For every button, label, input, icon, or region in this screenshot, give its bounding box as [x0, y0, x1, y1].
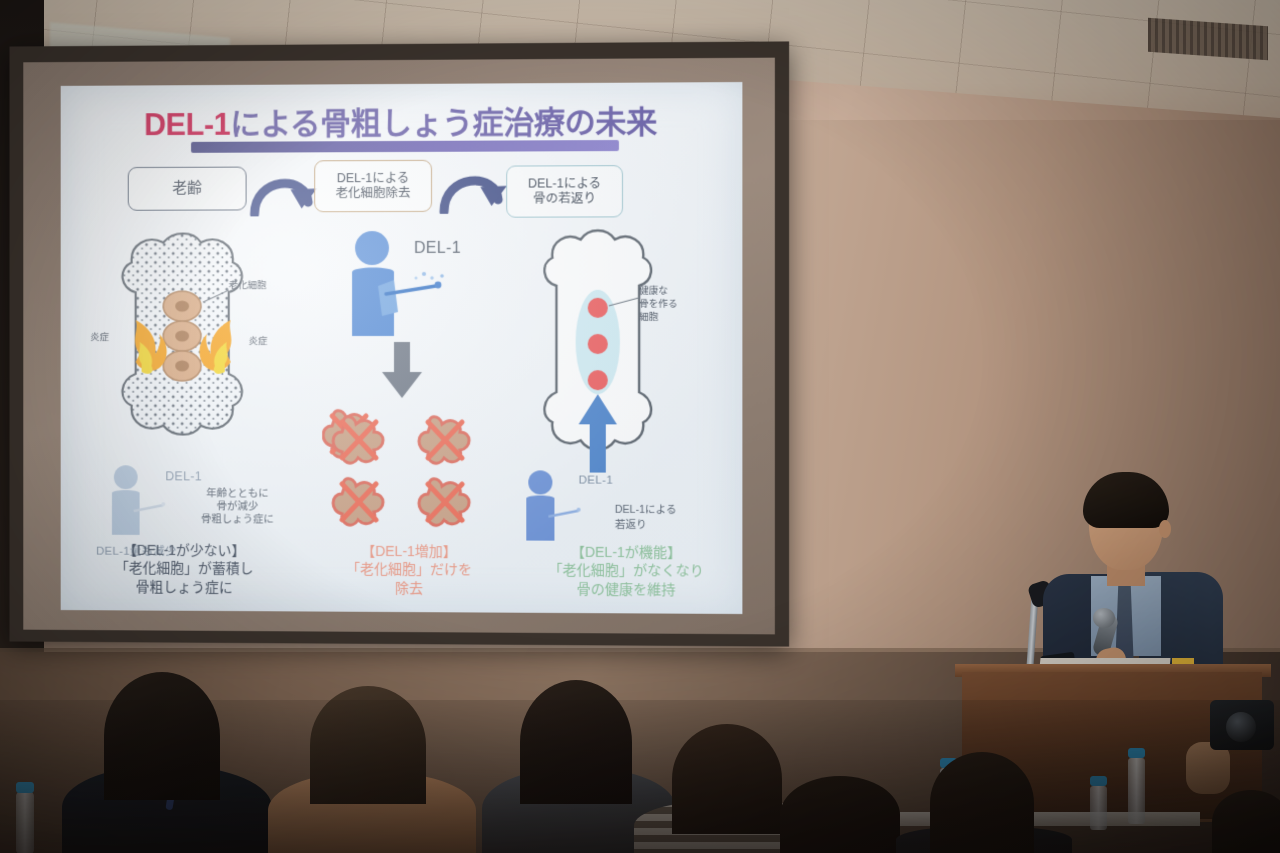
caption-2-line-1: 【DEL-1増加】	[294, 542, 524, 562]
caption-3-line-1: 【DEL-1が機能】	[510, 542, 742, 562]
column-aged-bone: 老化細胞 炎症 炎症 DEL-1 年齢とともに 骨が減少 骨粗しょう症に DEL…	[82, 224, 307, 533]
healthy-cells-line3: 細胞	[639, 311, 677, 324]
blue-person-small-icon	[514, 468, 584, 542]
flow-box-removal-line2: 老化細胞除去	[336, 186, 411, 201]
removed-cells-illustration	[322, 406, 504, 533]
slide-title: DEL-1による骨粗しょう症治療の未来	[61, 96, 743, 144]
label-senescent-cells: 老化細胞	[229, 280, 267, 292]
curved-arrow-1-icon	[249, 164, 319, 216]
column-del1-removal: DEL-1	[298, 224, 525, 535]
aging-note: 年齢とともに 骨が減少 骨粗しょう症に	[201, 487, 274, 526]
curved-arrow-2-icon	[438, 162, 508, 214]
rejuvenation-note: DEL-1による 若返り	[615, 503, 677, 533]
slide-title-highlight: DEL-1	[144, 107, 230, 142]
healthy-cells-label: 健康な 骨を作る 細胞	[639, 286, 677, 325]
label-inflammation-right: 炎症	[249, 336, 268, 348]
caption-3-line-2: 「老化細胞」がなくなり	[510, 561, 742, 581]
faded-person-wand-icon	[100, 463, 169, 537]
foreground-shadow	[0, 700, 1280, 853]
flow-row: 老齢 DEL-1による 老化細胞除去	[61, 161, 743, 219]
healthy-cells-line1: 健康な	[639, 286, 677, 299]
lecture-hall-photo: DEL-1による骨粗しょう症治療の未来 老齢 DEL-1による 老化細胞除去	[0, 0, 1280, 853]
healthy-bone-illustration	[534, 223, 665, 474]
caption-1-line-2: 「老化細胞」が蓄積し	[71, 559, 299, 579]
aging-note-line2: 骨が減少	[201, 500, 274, 513]
caption-column-2: 【DEL-1増加】 「老化細胞」だけを 除去	[294, 542, 524, 599]
column-rejuvenated-bone: 健康な 骨を作る 細胞 DEL-1 DEL-1による 若返り	[510, 223, 739, 535]
microphone-head	[1093, 608, 1115, 628]
projection-screen: DEL-1による骨粗しょう症治療の未来 老齢 DEL-1による 老化細胞除去	[10, 41, 790, 646]
flow-box-rejuvenation: DEL-1による 骨の若返り	[506, 165, 623, 218]
caption-1-line-1: 【DEL-1が少ない】	[71, 541, 299, 560]
title-underline-bar	[191, 140, 619, 153]
flow-box-aged-label: 老齢	[172, 180, 202, 198]
presenter-hair	[1083, 472, 1169, 528]
label-inflammation-left: 炎症	[90, 332, 109, 344]
del1-tag-col1: DEL-1	[165, 469, 202, 483]
aging-note-line1: 年齢とともに	[201, 487, 274, 500]
caption-2-line-3: 除去	[294, 578, 524, 598]
caption-2-line-2: 「老化細胞」だけを	[294, 560, 524, 580]
slide-title-rest: による骨粗しょう症治療の未来	[230, 105, 657, 142]
caption-column-3: 【DEL-1が機能】 「老化細胞」がなくなり 骨の健康を維持	[510, 542, 742, 599]
healthy-cells-line2: 骨を作る	[639, 299, 677, 312]
rejuvenation-note-line2: 若返り	[615, 518, 677, 533]
caption-3-line-3: 骨の健康を維持	[510, 580, 742, 600]
aged-bone-illustration	[82, 224, 307, 474]
flow-box-removal-line1: DEL-1による	[336, 171, 411, 186]
del1-tag-col2: DEL-1	[414, 240, 461, 258]
caption-1-line-3: 骨粗しょう症に	[71, 577, 299, 597]
del1-tag-col3: DEL-1	[579, 475, 613, 487]
down-arrow-icon	[380, 342, 424, 400]
presentation-slide: DEL-1による骨粗しょう症治療の未来 老齢 DEL-1による 老化細胞除去	[61, 82, 743, 614]
aging-note-line3: 骨粗しょう症に	[201, 514, 274, 527]
flow-box-rejuvenation-line1: DEL-1による	[528, 177, 601, 192]
flow-box-rejuvenation-line2: 骨の若返り	[528, 191, 601, 206]
presenter-ear	[1159, 520, 1171, 538]
caption-column-1: 【DEL-1が少ない】 「老化細胞」が蓄積し 骨粗しょう症に	[71, 541, 299, 597]
rejuvenation-note-line1: DEL-1による	[615, 503, 677, 518]
flow-box-removal: DEL-1による 老化細胞除去	[314, 160, 432, 212]
flow-box-aged: 老齢	[128, 167, 247, 211]
